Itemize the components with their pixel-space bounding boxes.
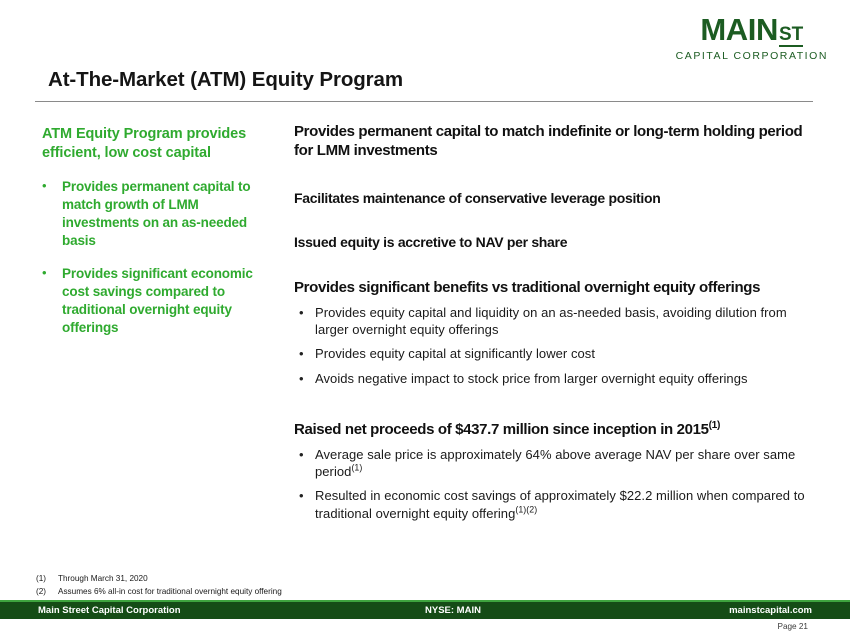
title-divider [35,101,813,102]
logo-st-text: ST [779,25,803,47]
proceeds-bullet-text: Resulted in economic cost savings of app… [315,488,805,520]
proceeds-bullet-text: Average sale price is approximately 64% … [315,447,795,479]
footnote-text: Assumes 6% all-in cost for traditional o… [58,586,282,599]
list-item: • Avoids negative impact to stock price … [294,370,806,387]
page-number: Page 21 [777,622,808,631]
right-point-permanent-capital: Provides permanent capital to match inde… [294,122,806,160]
proceeds-bullet: Average sale price is approximately 64% … [315,446,806,481]
footnote-text: Through March 31, 2020 [58,573,148,586]
logo-wordmark: MAINST [676,14,828,47]
bullet-icon: • [294,304,315,339]
list-item: • Provides permanent capital to match gr… [42,178,274,249]
left-bullet-list: • Provides permanent capital to match gr… [42,178,274,337]
spacer [294,394,806,420]
list-item: • Provides significant economic cost sav… [42,265,274,336]
footnote-ref: (1) [351,463,362,473]
proceeds-heading-footnote-ref: (1) [709,420,720,431]
left-bullet-text: Provides permanent capital to match grow… [62,178,274,249]
bullet-icon: • [294,345,315,362]
list-item: • Provides equity capital and liquidity … [294,304,806,339]
bullet-icon: • [42,178,62,249]
proceeds-heading-text: Raised net proceeds of $437.7 million si… [294,421,709,438]
benefit-text: Provides equity capital and liquidity on… [315,304,806,339]
footnote-row: (1) Through March 31, 2020 [36,573,282,586]
right-content-column: Provides permanent capital to match inde… [294,122,806,529]
list-item: • Average sale price is approximately 64… [294,446,806,481]
bullet-icon: • [294,446,315,481]
proceeds-bullet: Resulted in economic cost savings of app… [315,487,806,522]
proceeds-list: • Average sale price is approximately 64… [294,446,806,522]
benefit-text: Avoids negative impact to stock price fr… [315,370,806,387]
list-item: • Provides equity capital at significant… [294,345,806,362]
benefits-list: • Provides equity capital and liquidity … [294,304,806,387]
spacer [294,160,806,190]
footer-ticker: NYSE: MAIN [425,605,481,616]
proceeds-heading: Raised net proceeds of $437.7 million si… [294,420,806,439]
bullet-icon: • [294,370,315,387]
left-summary-column: ATM Equity Program provides efficient, l… [42,125,274,353]
footer-company-name: Main Street Capital Corporation [38,605,181,616]
right-point-leverage: Facilitates maintenance of conservative … [294,190,806,208]
spacer [294,252,806,278]
bullet-icon: • [294,487,315,522]
bullet-icon: • [42,265,62,336]
logo-main-text: MAIN [700,14,778,45]
page-title: At-The-Market (ATM) Equity Program [48,68,403,92]
footer-bar: Main Street Capital Corporation NYSE: MA… [0,602,850,619]
footnote-ref: (1)(2) [515,504,537,514]
logo-subtitle: CAPITAL CORPORATION [676,51,828,62]
left-bullet-text: Provides significant economic cost savin… [62,265,274,336]
spacer [294,208,806,234]
footer-website[interactable]: mainstcapital.com [729,605,812,616]
footnote-row: (2) Assumes 6% all-in cost for tradition… [36,586,282,599]
footnote-number: (1) [36,573,58,586]
left-column-heading: ATM Equity Program provides efficient, l… [42,125,274,162]
footnotes: (1) Through March 31, 2020 (2) Assumes 6… [36,573,282,598]
benefits-heading: Provides significant benefits vs traditi… [294,278,806,297]
footnote-number: (2) [36,586,58,599]
company-logo: MAINST CAPITAL CORPORATION [676,14,828,62]
benefit-text: Provides equity capital at significantly… [315,345,806,362]
right-point-nav-accretive: Issued equity is accretive to NAV per sh… [294,234,806,252]
list-item: • Resulted in economic cost savings of a… [294,487,806,522]
